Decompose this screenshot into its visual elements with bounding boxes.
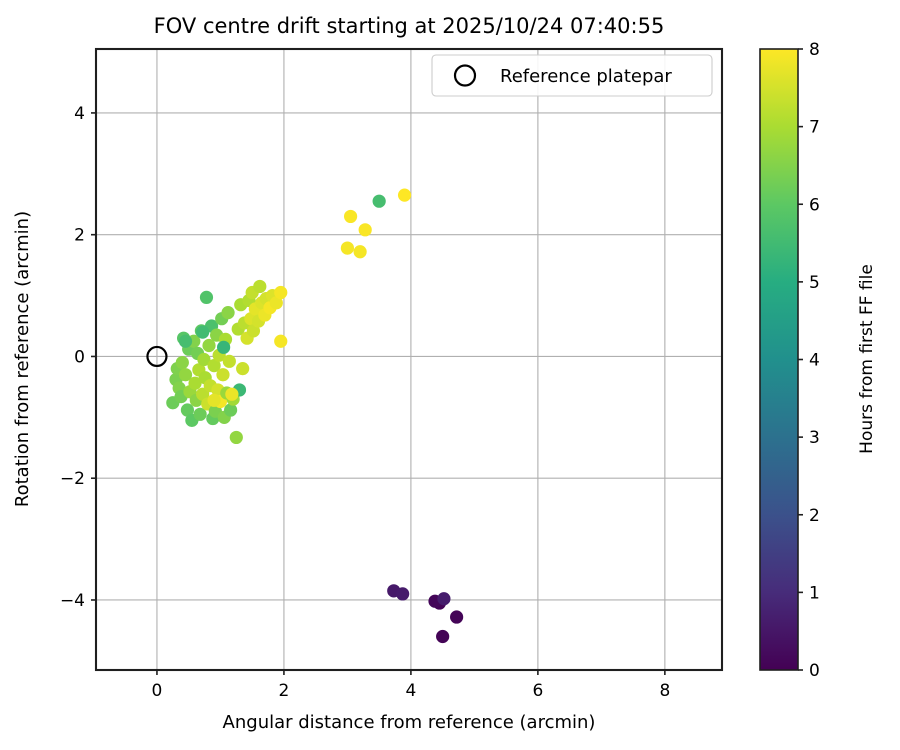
colorbar-tick-label: 3: [809, 428, 820, 448]
x-axis-label: Angular distance from reference (arcmin): [223, 712, 596, 733]
y-tick-label: 0: [74, 347, 85, 367]
scatter-point: [224, 403, 237, 416]
scatter-point: [436, 630, 449, 643]
scatter-point: [196, 326, 209, 339]
scatter-point: [437, 592, 450, 605]
chart-title: FOV centre drift starting at 2025/10/24 …: [154, 14, 665, 38]
colorbar-tick-label: 0: [809, 661, 820, 681]
x-tick-label: 8: [659, 681, 670, 701]
y-tick-label: −4: [60, 591, 85, 611]
colorbar-tick-label: 5: [809, 273, 820, 293]
scatter-point: [217, 341, 230, 354]
scatter-point: [341, 241, 354, 254]
scatter-point: [398, 189, 411, 202]
colorbar-tick-label: 4: [809, 351, 820, 371]
scatter-point: [253, 280, 266, 293]
scatter-point: [176, 356, 189, 369]
colorbar-tick-label: 2: [809, 506, 820, 526]
colorbar-tick-label: 1: [809, 583, 820, 603]
legend-entry-label: Reference platepar: [500, 66, 672, 87]
scatter-point: [225, 388, 238, 401]
colorbar-tick-label: 8: [809, 40, 820, 60]
legend[interactable]: Reference platepar: [432, 55, 712, 96]
x-tick-label: 6: [532, 681, 543, 701]
colorbar-tick-label: 6: [809, 195, 820, 215]
scatter-point: [373, 195, 386, 208]
scatter-point: [274, 335, 287, 348]
scatter-point: [200, 291, 213, 304]
colorbar-label: Hours from first FF file: [857, 264, 877, 454]
scatter-point: [207, 394, 220, 407]
scatter-plot-figure: FOV centre drift starting at 2025/10/24 …: [0, 0, 900, 750]
y-tick-label: 2: [74, 226, 85, 246]
x-tick-label: 4: [405, 681, 416, 701]
x-tick-label: 0: [152, 681, 163, 701]
scatter-point: [274, 286, 287, 299]
scatter-point: [396, 587, 409, 600]
scatter-point: [236, 362, 249, 375]
colorbar-tick-label: 7: [809, 118, 820, 138]
colorbar-gradient: [760, 49, 798, 670]
y-axis-label: Rotation from reference (arcmin): [12, 211, 33, 507]
figure-container: FOV centre drift starting at 2025/10/24 …: [0, 0, 900, 750]
x-tick-label: 2: [279, 681, 290, 701]
scatter-point: [354, 245, 367, 258]
scatter-point: [230, 431, 243, 444]
scatter-point: [359, 223, 372, 236]
scatter-point: [179, 335, 192, 348]
scatter-point: [344, 210, 357, 223]
y-tick-label: −2: [60, 469, 85, 489]
scatter-point: [216, 368, 229, 381]
scatter-point: [223, 355, 236, 368]
y-tick-label: 4: [74, 104, 85, 124]
scatter-point: [221, 306, 234, 319]
scatter-point: [450, 610, 463, 623]
